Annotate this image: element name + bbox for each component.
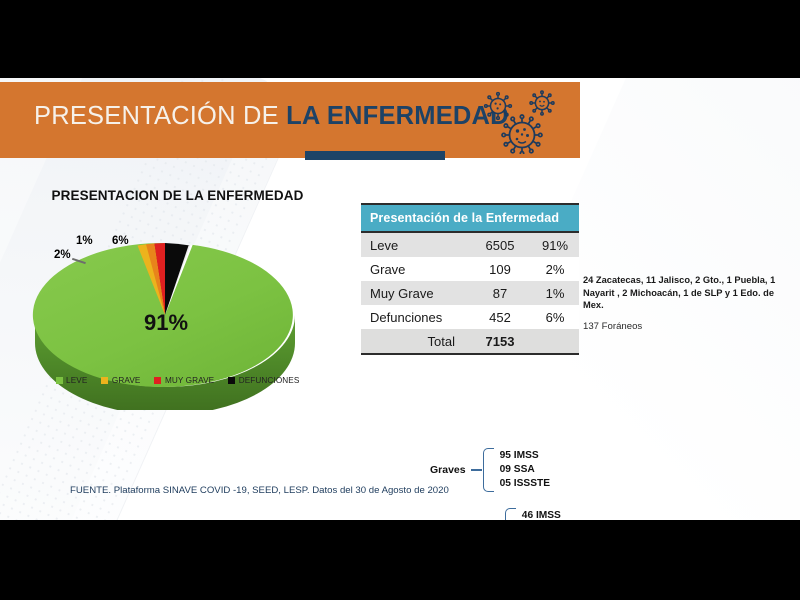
legend-label-muy-grave: MUY GRAVE — [165, 376, 214, 385]
letterbox-bottom-bar — [0, 520, 800, 600]
cell-total-value: 7153 — [469, 329, 531, 354]
note-foraneos: 137 Foráneos — [583, 321, 795, 332]
header-band: PRESENTACIÓN DE LA ENFERMEDAD — [0, 82, 580, 158]
legend-item-leve: LEVE — [56, 376, 88, 385]
bracket-group-muy-graves: Muy graves 46 IMSS 37 SSA 04 ISSSTE — [430, 508, 572, 520]
cell-total-label: Total — [361, 329, 469, 354]
cell-pct: 1% — [531, 281, 579, 305]
cell-value: 452 — [469, 305, 531, 329]
note-state-breakdown: 24 Zacatecas, 11 Jalisco, 2 Gto., 1 Pueb… — [583, 274, 795, 312]
pie-label-grave: 2% — [54, 249, 71, 261]
legend-item-defunciones: DEFUNCIONES — [228, 376, 299, 385]
table-row: Defunciones 452 6% — [361, 305, 579, 329]
legend-swatch-grave — [101, 377, 108, 384]
title-underline-accent — [305, 151, 445, 160]
legend-swatch-leve — [56, 377, 63, 384]
bracket-item: 46 IMSS — [522, 509, 572, 520]
chart-legend: LEVE GRAVE MUY GRAVE DEFUNCIONES — [0, 376, 355, 385]
pie-label-muy-grave: 1% — [76, 235, 93, 247]
cell-label: Muy Grave — [361, 281, 469, 305]
cell-value: 6505 — [469, 232, 531, 257]
letterbox-top-bar — [0, 0, 800, 78]
bracket-label-graves: Graves — [430, 464, 466, 476]
bracket-item: 05 ISSSTE — [500, 477, 550, 491]
bracket-items-muy-graves: 46 IMSS 37 SSA 04 ISSSTE — [522, 509, 572, 520]
bracket-items-graves: 95 IMSS 09 SSA 05 ISSSTE — [500, 449, 550, 491]
bracket-dash — [471, 469, 482, 471]
cell-value: 87 — [469, 281, 531, 305]
legend-item-grave: GRAVE — [101, 376, 140, 385]
legend-label-defunciones: DEFUNCIONES — [239, 376, 300, 385]
table-row: Grave 109 2% — [361, 257, 579, 281]
table-total-row: Total 7153 — [361, 329, 579, 354]
cell-total-pct — [531, 329, 579, 354]
legend-item-muy-grave: MUY GRAVE — [154, 376, 214, 385]
footer-source-text: FUENTE. Plataforma SINAVE COVID -19, SEE… — [70, 485, 449, 496]
cell-pct: 6% — [531, 305, 579, 329]
disease-table-block: Presentación de la Enfermedad Leve 6505 … — [361, 203, 579, 355]
pie-chart-block: PRESENTACION DE LA ENFERMEDAD — [0, 188, 355, 498]
virus-cluster-icon — [480, 90, 565, 154]
bracket-item: 09 SSA — [500, 463, 550, 477]
pie-label-leve: 91% — [144, 310, 188, 336]
table-header-row: Presentación de la Enfermedad — [361, 204, 579, 232]
legend-label-leve: LEVE — [66, 376, 87, 385]
cell-label: Leve — [361, 232, 469, 257]
legend-label-grave: GRAVE — [112, 376, 141, 385]
page-title-bold: LA ENFERMEDAD — [286, 102, 509, 130]
cell-label: Grave — [361, 257, 469, 281]
cell-pct: 91% — [531, 232, 579, 257]
chart-title: PRESENTACION DE LA ENFERMEDAD — [0, 188, 355, 203]
legend-swatch-defunciones — [228, 377, 235, 384]
page-title-thin: PRESENTACIÓN DE — [34, 102, 286, 130]
table-row: Muy Grave 87 1% — [361, 281, 579, 305]
slide-canvas: PRESENTACIÓN DE LA ENFERMEDAD — [0, 78, 800, 520]
page-title: PRESENTACIÓN DE LA ENFERMEDAD — [34, 102, 509, 131]
cell-label: Defunciones — [361, 305, 469, 329]
cell-pct: 2% — [531, 257, 579, 281]
cell-value: 109 — [469, 257, 531, 281]
disease-table: Presentación de la Enfermedad Leve 6505 … — [361, 203, 579, 355]
bracket-shape — [505, 508, 516, 520]
pie-label-defunciones: 6% — [112, 235, 129, 247]
table-header-cell: Presentación de la Enfermedad — [361, 204, 579, 232]
notes-block: 24 Zacatecas, 11 Jalisco, 2 Gto., 1 Pueb… — [583, 274, 795, 332]
bracket-item: 95 IMSS — [500, 449, 550, 463]
bracket-shape — [483, 448, 494, 492]
legend-swatch-muy-grave — [154, 377, 161, 384]
table-row: Leve 6505 91% — [361, 232, 579, 257]
